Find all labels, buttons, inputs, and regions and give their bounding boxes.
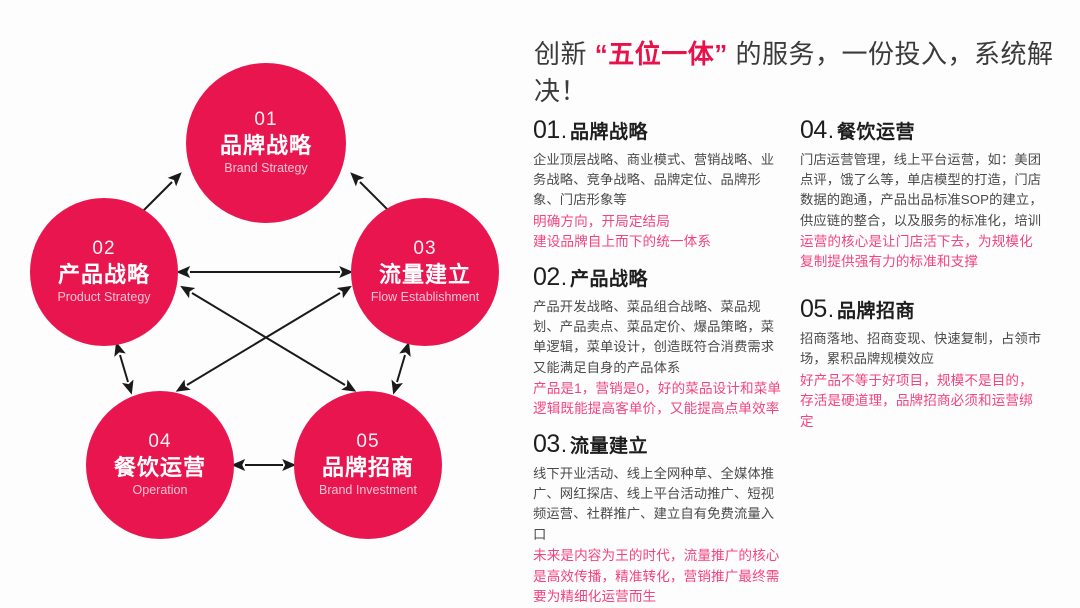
section-number: 03 [533,432,560,457]
sections-columns: 01 . 品牌战略 企业顶层战略、商业模式、营销战略、业务战略、竞争战略、品牌定… [528,118,1080,608]
slide-root: 01 品牌战略 Brand Strategy 02 产品战略 Product S… [0,0,1080,608]
section-body: 产品开发战略、菜品组合战略、菜品规划、产品卖点、菜品定价、爆品策略，菜单逻辑，菜… [533,297,782,378]
node-title-cn: 产品战略 [58,262,150,287]
section-number: 01 [533,118,560,143]
section-dot: . [561,434,567,456]
section-note: 明确方向，开局定结局 建设品牌自上而下的统一体系 [533,212,782,253]
node-title-cn: 品牌招商 [322,455,414,480]
pentagon-diagram: 01 品牌战略 Brand Strategy 02 产品战略 Product S… [0,0,520,608]
section-heading: 02 . 产品战略 [533,265,782,290]
section-title: 品牌招商 [837,302,915,321]
section-01: 01 . 品牌战略 企业顶层战略、商业模式、营销战略、业务战略、竞争战略、品牌定… [533,118,782,253]
diagram-node-02[interactable]: 02 产品战略 Product Strategy [30,198,178,346]
node-number: 03 [413,239,436,260]
node-number: 04 [148,432,171,453]
node-title-en: Operation [133,483,188,498]
diagram-node-05[interactable]: 05 品牌招商 Brand Investment [294,391,442,539]
section-title: 产品战略 [570,270,648,289]
diagram-node-01[interactable]: 01 品牌战略 Brand Strategy [186,63,346,223]
diagram-node-03[interactable]: 03 流量建立 Flow Establishment [351,198,499,346]
arrow-03-04 [187,293,340,385]
node-title-en: Brand Investment [319,483,417,498]
section-title: 品牌战略 [570,123,648,142]
arrow-02-04 [120,355,128,382]
column-right: 04 . 餐饮运营 门店运营管理，线上平台运营，如：美团点评，饿了么等，单店模型… [790,118,1052,608]
section-number: 04 [800,118,827,143]
node-title-cn: 流量建立 [379,262,471,287]
section-05: 05 . 品牌招商 招商落地、招商变现、快速复制，占领市场，累积品牌规模效应 好… [800,297,1044,432]
node-title-cn: 餐饮运营 [114,455,206,480]
diagram-node-04[interactable]: 04 餐饮运营 Operation [86,391,234,539]
column-left: 01 . 品牌战略 企业顶层战略、商业模式、营销战略、业务战略、竞争战略、品牌定… [528,118,790,608]
content-panel: 创新 “五位一体” 的服务，一份投入，系统解决！ 01 . 品牌战略 企业顶层战… [528,0,1080,608]
arrow-01-03 [360,182,390,212]
section-dot: . [561,267,567,289]
node-number: 05 [356,432,379,453]
section-02: 02 . 产品战略 产品开发战略、菜品组合战略、菜品规划、产品卖点、菜品定价、爆… [533,265,782,420]
node-title-en: Product Strategy [57,290,150,305]
node-title-en: Flow Establishment [371,290,479,305]
arrow-02-05 [192,293,345,385]
section-04: 04 . 餐饮运营 门店运营管理，线上平台运营，如：美团点评，饿了么等，单店模型… [800,118,1044,273]
section-body: 企业顶层战略、商业模式、营销战略、业务战略、竞争战略、品牌定位、品牌形象、门店形… [533,150,782,211]
node-number: 01 [254,110,277,131]
section-body: 线下开业活动、线上全网种草、全媒体推广、网红探店、线上平台活动推广、短视频运营、… [533,464,782,545]
section-note: 运营的核心是让门店活下去，为规模化复制提供强有力的标准和支撑 [800,232,1044,273]
node-title-cn: 品牌战略 [220,133,312,158]
section-number: 05 [800,297,827,322]
section-note: 好产品不等于好项目，规模不是目的，存活是硬道理，品牌招商必须和运营绑定 [800,371,1044,433]
node-number: 02 [92,239,115,260]
node-title-en: Brand Strategy [224,161,307,176]
section-dot: . [828,120,834,142]
section-dot: . [828,299,834,321]
section-title: 餐饮运营 [837,123,915,142]
section-number: 02 [533,265,560,290]
section-title: 流量建立 [570,437,648,456]
section-heading: 01 . 品牌战略 [533,118,782,143]
headline: 创新 “五位一体” 的服务，一份投入，系统解决！ [534,36,1074,110]
section-heading: 04 . 餐饮运营 [800,118,1044,143]
section-03: 03 . 流量建立 线下开业活动、线上全网种草、全媒体推广、网红探店、线上平台活… [533,432,782,608]
headline-accent: “五位一体” [595,39,728,69]
arrow-03-05 [397,355,405,382]
section-heading: 03 . 流量建立 [533,432,782,457]
section-dot: . [561,120,567,142]
section-body: 招商落地、招商变现、快速复制，占领市场，累积品牌规模效应 [800,329,1044,369]
headline-before: 创新 [534,39,595,69]
section-note: 未来是内容为王的时代，流量推广的核心是高效传播，精准转化，营销推广最终需要为精细… [533,546,782,608]
section-body: 门店运营管理，线上平台运营，如：美团点评，饿了么等，单店模型的打造，门店数据的跑… [800,150,1044,231]
section-note: 产品是1，营销是0，好的菜品设计和菜单逻辑既能提高客单价，又能提高点单效率 [533,379,782,420]
section-heading: 05 . 品牌招商 [800,297,1044,322]
arrow-01-02 [142,182,172,212]
